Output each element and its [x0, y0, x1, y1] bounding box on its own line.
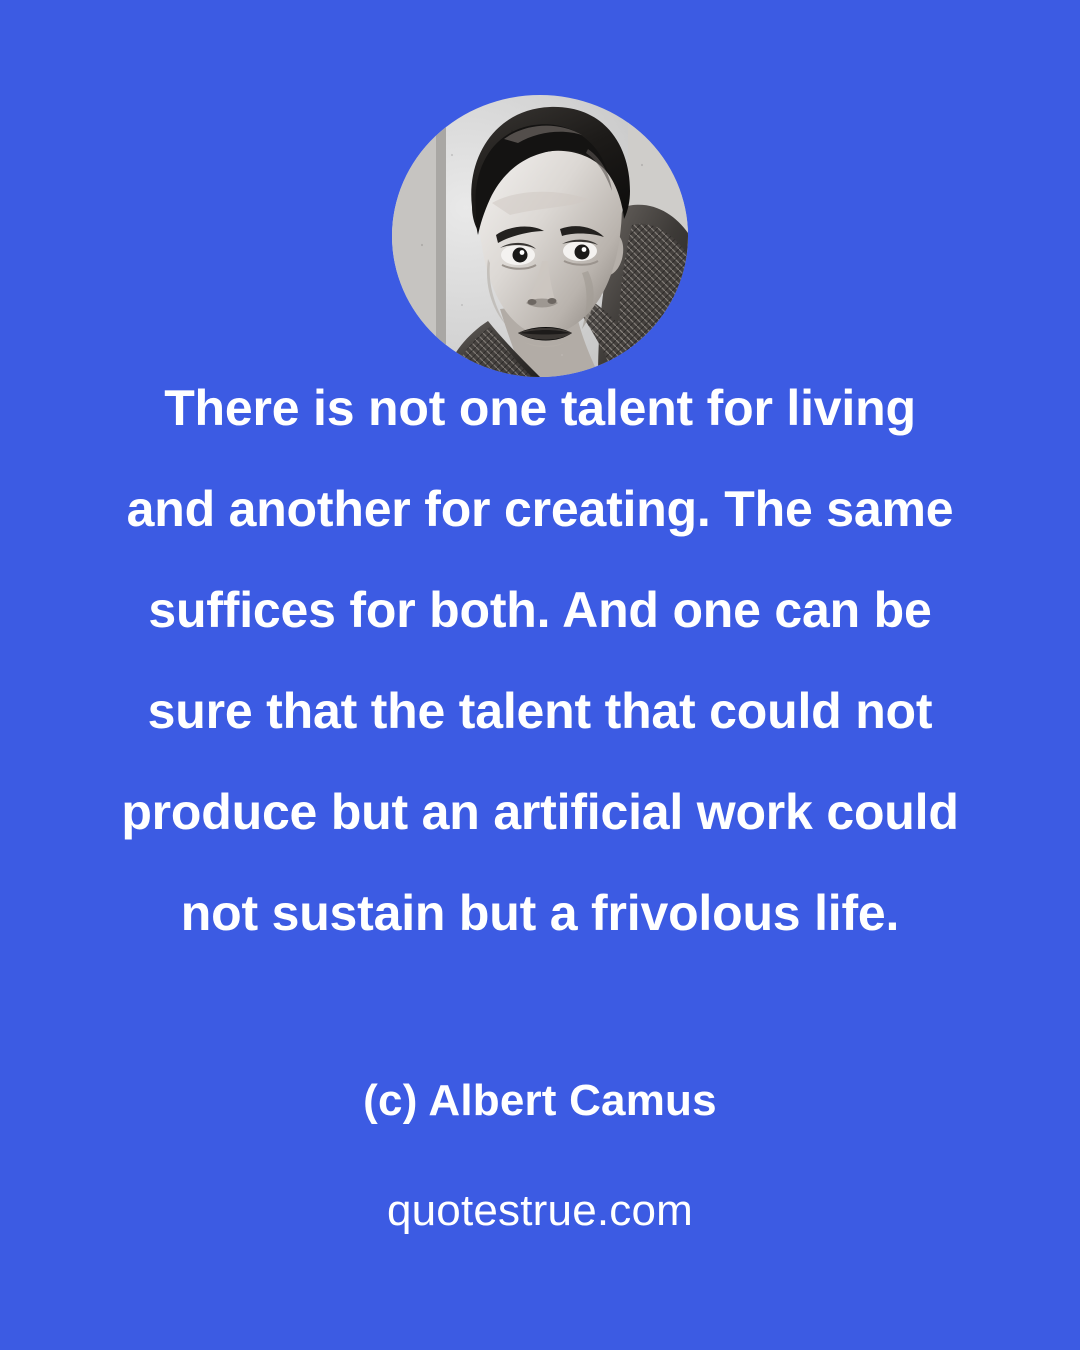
- quote-author: (c) Albert Camus: [0, 1076, 1080, 1126]
- portrait-photo-circular-icon: [392, 95, 688, 377]
- portrait-avatar: [392, 95, 688, 377]
- quote-card: There is not one talent for living and a…: [0, 0, 1080, 1350]
- quote-text: There is not one talent for living and a…: [0, 358, 1080, 964]
- site-watermark: quotestrue.com: [0, 1186, 1080, 1236]
